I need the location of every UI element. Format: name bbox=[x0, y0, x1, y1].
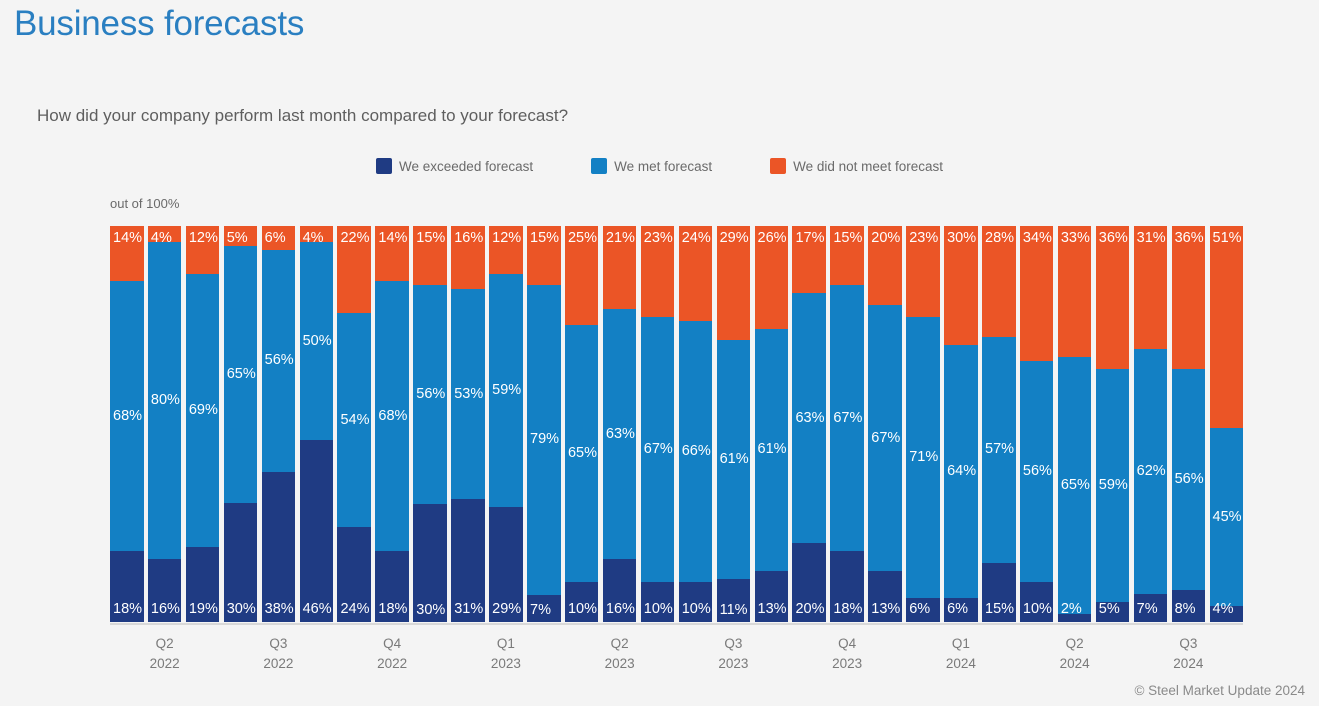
segment-missed[interactable]: 24% bbox=[679, 226, 713, 321]
segment-exceeded[interactable]: 46% bbox=[300, 440, 334, 622]
segment-exceeded[interactable]: 2% bbox=[1058, 614, 1092, 622]
segment-met[interactable]: 59% bbox=[1096, 369, 1130, 603]
x-tick-q2-2023: Q22023 bbox=[575, 634, 665, 673]
x-tick-quarter: Q2 bbox=[120, 634, 210, 654]
segment-missed[interactable]: 26% bbox=[755, 226, 789, 329]
bar-column[interactable]: 31%62%7% bbox=[1134, 226, 1168, 622]
segment-value-label: 6% bbox=[944, 602, 968, 622]
segment-met[interactable]: 66% bbox=[679, 321, 713, 582]
y-axis-note: out of 100% bbox=[110, 196, 179, 211]
segment-exceeded[interactable]: 10% bbox=[679, 582, 713, 622]
segment-exceeded[interactable]: 7% bbox=[1134, 594, 1168, 622]
segment-met[interactable]: 53% bbox=[451, 289, 485, 499]
segment-exceeded[interactable]: 19% bbox=[186, 547, 220, 622]
segment-value-label: 50% bbox=[300, 334, 332, 349]
segment-value-label: 15% bbox=[527, 226, 559, 246]
x-tick-q1-2024: Q12024 bbox=[916, 634, 1006, 673]
segment-value-label: 4% bbox=[1210, 602, 1234, 622]
x-tick-year: 2023 bbox=[802, 654, 892, 674]
bar-column[interactable]: 21%63%16% bbox=[603, 226, 637, 622]
segment-exceeded[interactable]: 4% bbox=[1210, 606, 1244, 622]
segment-value-label: 30% bbox=[413, 603, 445, 623]
x-tick-quarter: Q4 bbox=[347, 634, 437, 654]
segment-value-label: 12% bbox=[186, 226, 218, 246]
bar-column[interactable]: 6%56%38% bbox=[262, 226, 296, 622]
segment-missed[interactable]: 6% bbox=[262, 226, 296, 250]
segment-value-label: 71% bbox=[906, 450, 938, 465]
bar-column[interactable]: 23%71%6% bbox=[906, 226, 940, 622]
segment-value-label: 63% bbox=[603, 427, 635, 442]
segment-value-label: 29% bbox=[489, 602, 521, 622]
segment-exceeded[interactable]: 13% bbox=[868, 571, 902, 622]
segment-exceeded[interactable]: 13% bbox=[755, 571, 789, 622]
segment-exceeded[interactable]: 18% bbox=[830, 551, 864, 622]
chart-question: How did your company perform last month … bbox=[37, 106, 568, 126]
segment-value-label: 23% bbox=[641, 226, 673, 246]
segment-missed[interactable]: 20% bbox=[868, 226, 902, 305]
segment-value-label: 51% bbox=[1210, 226, 1242, 246]
segment-value-label: 16% bbox=[603, 602, 635, 622]
segment-value-label: 23% bbox=[906, 226, 938, 246]
segment-missed[interactable]: 16% bbox=[451, 226, 485, 289]
segment-exceeded[interactable]: 7% bbox=[527, 595, 561, 622]
segment-value-label: 56% bbox=[413, 387, 445, 402]
segment-value-label: 46% bbox=[300, 602, 332, 622]
x-tick-q3-2024: Q32024 bbox=[1143, 634, 1233, 673]
segment-value-label: 24% bbox=[679, 226, 711, 246]
segment-missed[interactable]: 23% bbox=[641, 226, 675, 317]
segment-met[interactable]: 45% bbox=[1210, 428, 1244, 606]
bar-column[interactable]: 24%66%10% bbox=[679, 226, 713, 622]
x-tick-year: 2024 bbox=[916, 654, 1006, 674]
segment-value-label: 59% bbox=[489, 383, 521, 398]
bar-column[interactable]: 51%45%4% bbox=[1210, 226, 1244, 622]
segment-met[interactable]: 67% bbox=[641, 317, 675, 582]
segment-exceeded[interactable]: 18% bbox=[375, 551, 409, 622]
segment-value-label: 15% bbox=[830, 226, 862, 246]
bar-column[interactable]: 33%65%2% bbox=[1058, 226, 1092, 622]
segment-exceeded[interactable]: 16% bbox=[148, 559, 182, 622]
x-tick-quarter: Q2 bbox=[575, 634, 665, 654]
bar-column[interactable]: 4%50%46% bbox=[300, 226, 334, 622]
segment-value-label: 64% bbox=[944, 464, 976, 479]
bar-column[interactable]: 14%68%18% bbox=[110, 226, 144, 622]
segment-met[interactable]: 68% bbox=[110, 281, 144, 550]
segment-met[interactable]: 62% bbox=[1134, 349, 1168, 595]
segment-value-label: 2% bbox=[1058, 602, 1082, 622]
segment-value-label: 45% bbox=[1210, 510, 1242, 525]
segment-met[interactable]: 50% bbox=[300, 242, 334, 440]
x-tick-quarter: Q4 bbox=[802, 634, 892, 654]
segment-value-label: 36% bbox=[1096, 226, 1128, 246]
segment-value-label: 24% bbox=[337, 602, 369, 622]
segment-exceeded[interactable]: 15% bbox=[982, 563, 1016, 622]
segment-value-label: 22% bbox=[337, 226, 369, 246]
segment-exceeded[interactable]: 20% bbox=[792, 543, 826, 622]
segment-exceeded[interactable]: 24% bbox=[337, 527, 371, 622]
segment-exceeded[interactable]: 6% bbox=[944, 598, 978, 622]
segment-value-label: 36% bbox=[1172, 226, 1204, 246]
legend-label-exceeded: We exceeded forecast bbox=[399, 159, 533, 174]
square-swatch-icon bbox=[376, 158, 392, 174]
segment-missed[interactable]: 30% bbox=[944, 226, 978, 345]
x-axis-line bbox=[110, 623, 1243, 625]
x-tick-quarter: Q2 bbox=[1030, 634, 1120, 654]
x-tick-year: 2023 bbox=[688, 654, 778, 674]
segment-value-label: 5% bbox=[224, 226, 248, 246]
x-tick-quarter: Q3 bbox=[1143, 634, 1233, 654]
x-tick-year: 2022 bbox=[120, 654, 210, 674]
segment-met[interactable]: 59% bbox=[489, 274, 523, 508]
x-tick-q2-2022: Q22022 bbox=[120, 634, 210, 673]
segment-value-label: 18% bbox=[110, 602, 142, 622]
segment-value-label: 61% bbox=[717, 452, 749, 467]
segment-value-label: 15% bbox=[413, 226, 445, 246]
segment-exceeded[interactable]: 6% bbox=[906, 598, 940, 622]
x-tick-year: 2024 bbox=[1143, 654, 1233, 674]
bar-column[interactable]: 12%69%19% bbox=[186, 226, 220, 622]
copyright-notice: © Steel Market Update 2024 bbox=[1134, 683, 1305, 698]
segment-missed[interactable]: 12% bbox=[186, 226, 220, 274]
segment-met[interactable]: 67% bbox=[830, 285, 864, 550]
segment-missed[interactable]: 33% bbox=[1058, 226, 1092, 357]
segment-value-label: 61% bbox=[755, 442, 787, 457]
segment-exceeded[interactable]: 29% bbox=[489, 507, 523, 622]
segment-exceeded[interactable]: 30% bbox=[413, 504, 447, 622]
segment-met[interactable]: 56% bbox=[1020, 361, 1054, 583]
segment-met[interactable]: 56% bbox=[1172, 369, 1206, 591]
segment-value-label: 15% bbox=[982, 602, 1014, 622]
segment-value-label: 67% bbox=[868, 431, 900, 446]
segment-missed[interactable]: 21% bbox=[603, 226, 637, 309]
legend-item-met[interactable]: We met forecast bbox=[591, 158, 712, 174]
bar-column[interactable]: 15%79%7% bbox=[527, 226, 561, 622]
segment-value-label: 34% bbox=[1020, 226, 1052, 246]
segment-value-label: 7% bbox=[527, 603, 551, 623]
segment-value-label: 26% bbox=[755, 226, 787, 246]
segment-missed[interactable]: 34% bbox=[1020, 226, 1054, 361]
x-tick-year: 2023 bbox=[461, 654, 551, 674]
segment-exceeded[interactable]: 5% bbox=[1096, 602, 1130, 622]
x-tick-year: 2023 bbox=[575, 654, 665, 674]
x-tick-quarter: Q1 bbox=[461, 634, 551, 654]
bar-column[interactable]: 12%59%29% bbox=[489, 226, 523, 622]
segment-value-label: 67% bbox=[641, 442, 673, 457]
segment-missed[interactable]: 31% bbox=[1134, 226, 1168, 349]
segment-value-label: 18% bbox=[830, 602, 862, 622]
x-tick-q1-2023: Q12023 bbox=[461, 634, 551, 673]
x-tick-year: 2022 bbox=[347, 654, 437, 674]
segment-value-label: 56% bbox=[1020, 464, 1052, 479]
segment-value-label: 8% bbox=[1172, 602, 1196, 622]
segment-value-label: 56% bbox=[262, 353, 294, 368]
bar-column[interactable]: 26%61%13% bbox=[755, 226, 789, 622]
segment-value-label: 66% bbox=[679, 444, 711, 459]
segment-value-label: 16% bbox=[451, 226, 483, 246]
square-swatch-icon bbox=[770, 158, 786, 174]
bar-column[interactable]: 29%61%11% bbox=[717, 226, 751, 622]
segment-value-label: 31% bbox=[1134, 226, 1166, 246]
segment-value-label: 20% bbox=[868, 226, 900, 246]
segment-value-label: 6% bbox=[262, 226, 286, 246]
segment-value-label: 53% bbox=[451, 387, 483, 402]
segment-value-label: 14% bbox=[110, 226, 142, 246]
bar-column[interactable]: 17%63%20% bbox=[792, 226, 826, 622]
segment-met[interactable]: 79% bbox=[527, 285, 561, 595]
segment-value-label: 6% bbox=[906, 602, 930, 622]
segment-value-label: 65% bbox=[565, 446, 597, 461]
segment-met[interactable]: 56% bbox=[262, 250, 296, 472]
segment-met[interactable]: 68% bbox=[375, 281, 409, 550]
bar-column[interactable]: 16%53%31% bbox=[451, 226, 485, 622]
segment-missed[interactable]: 12% bbox=[489, 226, 523, 274]
segment-met[interactable]: 63% bbox=[792, 293, 826, 542]
x-tick-q2-2024: Q22024 bbox=[1030, 634, 1120, 673]
segment-value-label: 29% bbox=[717, 226, 749, 246]
segment-value-label: 18% bbox=[375, 602, 407, 622]
segment-missed[interactable]: 14% bbox=[375, 226, 409, 281]
x-tick-quarter: Q1 bbox=[916, 634, 1006, 654]
segment-met[interactable]: 67% bbox=[868, 305, 902, 570]
x-tick-q4-2022: Q42022 bbox=[347, 634, 437, 673]
segment-value-label: 11% bbox=[717, 603, 748, 623]
segment-value-label: 79% bbox=[527, 432, 559, 447]
segment-exceeded[interactable]: 11% bbox=[717, 579, 751, 622]
segment-value-label: 67% bbox=[830, 411, 862, 426]
page-title: Business forecasts bbox=[14, 4, 304, 44]
segment-value-label: 10% bbox=[1020, 602, 1052, 622]
segment-value-label: 38% bbox=[262, 602, 294, 622]
segment-value-label: 31% bbox=[451, 602, 483, 622]
segment-value-label: 17% bbox=[792, 226, 824, 246]
segment-value-label: 59% bbox=[1096, 478, 1128, 493]
segment-exceeded[interactable]: 10% bbox=[565, 582, 599, 622]
segment-value-label: 5% bbox=[1096, 602, 1120, 622]
legend-item-missed[interactable]: We did not meet forecast bbox=[770, 158, 943, 174]
segment-value-label: 13% bbox=[755, 602, 787, 622]
segment-exceeded[interactable]: 31% bbox=[451, 499, 485, 622]
bar-column[interactable]: 20%67%13% bbox=[868, 226, 902, 622]
segment-value-label: 57% bbox=[982, 442, 1014, 457]
bar-column[interactable]: 25%65%10% bbox=[565, 226, 599, 622]
bar-column[interactable]: 36%59%5% bbox=[1096, 226, 1130, 622]
segment-missed[interactable]: 15% bbox=[830, 226, 864, 285]
segment-value-label: 54% bbox=[337, 413, 369, 428]
segment-exceeded[interactable]: 38% bbox=[262, 472, 296, 622]
segment-missed[interactable]: 17% bbox=[792, 226, 826, 293]
stacked-bar-chart-plot: 14%68%18%4%80%16%12%69%19%5%65%30%6%56%3… bbox=[110, 226, 1243, 622]
segment-exceeded[interactable]: 30% bbox=[224, 503, 258, 622]
segment-value-label: 16% bbox=[148, 602, 180, 622]
segment-met[interactable]: 56% bbox=[413, 285, 447, 505]
chart-legend: We exceeded forecast We met forecast We … bbox=[0, 158, 1319, 174]
bar-column[interactable]: 28%57%15% bbox=[982, 226, 1016, 622]
segment-value-label: 65% bbox=[224, 367, 256, 382]
segment-value-label: 63% bbox=[792, 411, 824, 426]
segment-value-label: 68% bbox=[375, 409, 407, 424]
x-tick-year: 2022 bbox=[233, 654, 323, 674]
segment-value-label: 65% bbox=[1058, 478, 1090, 493]
segment-missed[interactable]: 4% bbox=[300, 226, 334, 242]
segment-exceeded[interactable]: 10% bbox=[1020, 582, 1054, 622]
segment-value-label: 28% bbox=[982, 226, 1014, 246]
bar-column[interactable]: 23%67%10% bbox=[641, 226, 675, 622]
segment-value-label: 21% bbox=[603, 226, 635, 246]
bar-column[interactable]: 36%56%8% bbox=[1172, 226, 1206, 622]
segment-missed[interactable]: 29% bbox=[717, 226, 751, 340]
x-tick-quarter: Q3 bbox=[688, 634, 778, 654]
segment-missed[interactable]: 15% bbox=[527, 226, 561, 285]
segment-value-label: 69% bbox=[186, 403, 218, 418]
segment-value-label: 20% bbox=[792, 602, 824, 622]
segment-exceeded[interactable]: 18% bbox=[110, 551, 144, 622]
segment-value-label: 19% bbox=[186, 602, 218, 622]
x-tick-year: 2024 bbox=[1030, 654, 1120, 674]
segment-missed[interactable]: 36% bbox=[1096, 226, 1130, 369]
segment-missed[interactable]: 23% bbox=[906, 226, 940, 317]
segment-met[interactable]: 65% bbox=[224, 246, 258, 503]
segment-met[interactable]: 80% bbox=[148, 242, 182, 559]
segment-value-label: 62% bbox=[1134, 464, 1166, 479]
segment-missed[interactable]: 51% bbox=[1210, 226, 1244, 428]
segment-value-label: 10% bbox=[565, 602, 597, 622]
segment-value-label: 14% bbox=[375, 226, 407, 246]
x-tick-q3-2023: Q32023 bbox=[688, 634, 778, 673]
segment-missed[interactable]: 25% bbox=[565, 226, 599, 325]
segment-met[interactable]: 65% bbox=[565, 325, 599, 582]
segment-value-label: 12% bbox=[489, 226, 521, 246]
segment-missed[interactable]: 28% bbox=[982, 226, 1016, 337]
square-swatch-icon bbox=[591, 158, 607, 174]
segment-exceeded[interactable]: 10% bbox=[641, 582, 675, 622]
bar-column[interactable]: 5%65%30% bbox=[224, 226, 258, 622]
segment-value-label: 56% bbox=[1172, 472, 1204, 487]
legend-item-exceeded[interactable]: We exceeded forecast bbox=[376, 158, 533, 174]
segment-missed[interactable]: 15% bbox=[413, 226, 447, 285]
segment-met[interactable]: 57% bbox=[982, 337, 1016, 563]
segment-value-label: 33% bbox=[1058, 226, 1090, 246]
bar-column[interactable]: 15%67%18% bbox=[830, 226, 864, 622]
segment-met[interactable]: 54% bbox=[337, 313, 371, 527]
segment-value-label: 68% bbox=[110, 409, 142, 424]
segment-value-label: 25% bbox=[565, 226, 597, 246]
segment-met[interactable]: 63% bbox=[603, 309, 637, 558]
bar-column[interactable]: 34%56%10% bbox=[1020, 226, 1054, 622]
segment-met[interactable]: 61% bbox=[717, 340, 751, 579]
segment-value-label: 13% bbox=[868, 602, 900, 622]
segment-met[interactable]: 64% bbox=[944, 345, 978, 598]
segment-value-label: 7% bbox=[1134, 602, 1158, 622]
segment-met[interactable]: 61% bbox=[755, 329, 789, 571]
segment-value-label: 10% bbox=[641, 602, 673, 622]
segment-value-label: 80% bbox=[148, 393, 180, 408]
x-tick-quarter: Q3 bbox=[233, 634, 323, 654]
segment-exceeded[interactable]: 16% bbox=[603, 559, 637, 622]
segment-value-label: 10% bbox=[679, 602, 711, 622]
segment-missed[interactable]: 4% bbox=[148, 226, 182, 242]
segment-missed[interactable]: 14% bbox=[110, 226, 144, 281]
legend-label-met: We met forecast bbox=[614, 159, 712, 174]
bar-column[interactable]: 30%64%6% bbox=[944, 226, 978, 622]
bar-column[interactable]: 15%56%30% bbox=[413, 226, 447, 622]
bar-column[interactable]: 22%54%24% bbox=[337, 226, 371, 622]
bar-column[interactable]: 4%80%16% bbox=[148, 226, 182, 622]
segment-missed[interactable]: 5% bbox=[224, 226, 258, 246]
segment-missed[interactable]: 36% bbox=[1172, 226, 1206, 369]
segment-met[interactable]: 69% bbox=[186, 274, 220, 547]
x-tick-q4-2023: Q42023 bbox=[802, 634, 892, 673]
bar-column[interactable]: 14%68%18% bbox=[375, 226, 409, 622]
segment-missed[interactable]: 22% bbox=[337, 226, 371, 313]
x-tick-q3-2022: Q32022 bbox=[233, 634, 323, 673]
legend-label-missed: We did not meet forecast bbox=[793, 159, 943, 174]
segment-met[interactable]: 65% bbox=[1058, 357, 1092, 614]
segment-exceeded[interactable]: 8% bbox=[1172, 590, 1206, 622]
segment-value-label: 30% bbox=[224, 602, 256, 622]
segment-met[interactable]: 71% bbox=[906, 317, 940, 598]
segment-value-label: 30% bbox=[944, 226, 976, 246]
